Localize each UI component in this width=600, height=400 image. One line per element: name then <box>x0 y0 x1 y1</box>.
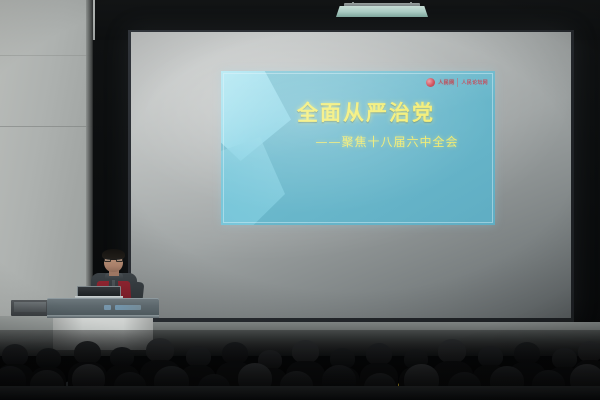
lectern-label-plate <box>115 305 141 310</box>
confidence-monitor-screen <box>14 302 46 312</box>
foreground-shadow <box>0 386 600 400</box>
audience-head <box>514 342 540 364</box>
audience-head <box>222 342 248 364</box>
projected-slide: 人民网 人民论坛网 全面从严治党 ——聚焦十八届六中全会 <box>221 71 495 225</box>
slide-subtitle: ——聚焦十八届六中全会 <box>221 133 495 150</box>
audience-head <box>366 343 392 365</box>
slide-logo-wordmark2: 人民论坛网 <box>461 80 488 86</box>
slide-title: 全面从严治党 <box>221 97 495 127</box>
audience-head <box>186 346 211 367</box>
light-diffuser <box>336 6 428 17</box>
people-daily-logo-icon <box>426 78 435 87</box>
glasses-lens-left <box>104 258 111 262</box>
slide-accent-polygon-bottom <box>221 137 285 225</box>
audience-head <box>438 339 466 363</box>
audience-head <box>74 341 101 364</box>
audience-head <box>36 348 61 369</box>
glasses-lens-right <box>116 258 123 262</box>
audience-head <box>292 340 319 363</box>
slide-logo: 人民网 人民论坛网 <box>426 76 488 89</box>
slide-logo-wordmark: 人民网 <box>438 80 454 86</box>
audience-head <box>146 338 174 362</box>
lectern-control-panel[interactable] <box>104 305 111 310</box>
audience-head <box>2 344 28 366</box>
lecture-hall-photo: 人民网 人民论坛网 全面从严治党 ——聚焦十八届六中全会 <box>0 0 600 400</box>
ceiling-light-panel <box>336 2 428 18</box>
wall-seam-lower <box>0 126 92 127</box>
audience-head <box>552 348 577 369</box>
slide-logo-divider <box>457 78 458 87</box>
glasses-icon <box>104 258 123 262</box>
wall-seam-upper <box>0 55 92 56</box>
audience-head <box>578 341 600 362</box>
audience-head <box>478 346 503 367</box>
audience-head <box>110 347 134 367</box>
